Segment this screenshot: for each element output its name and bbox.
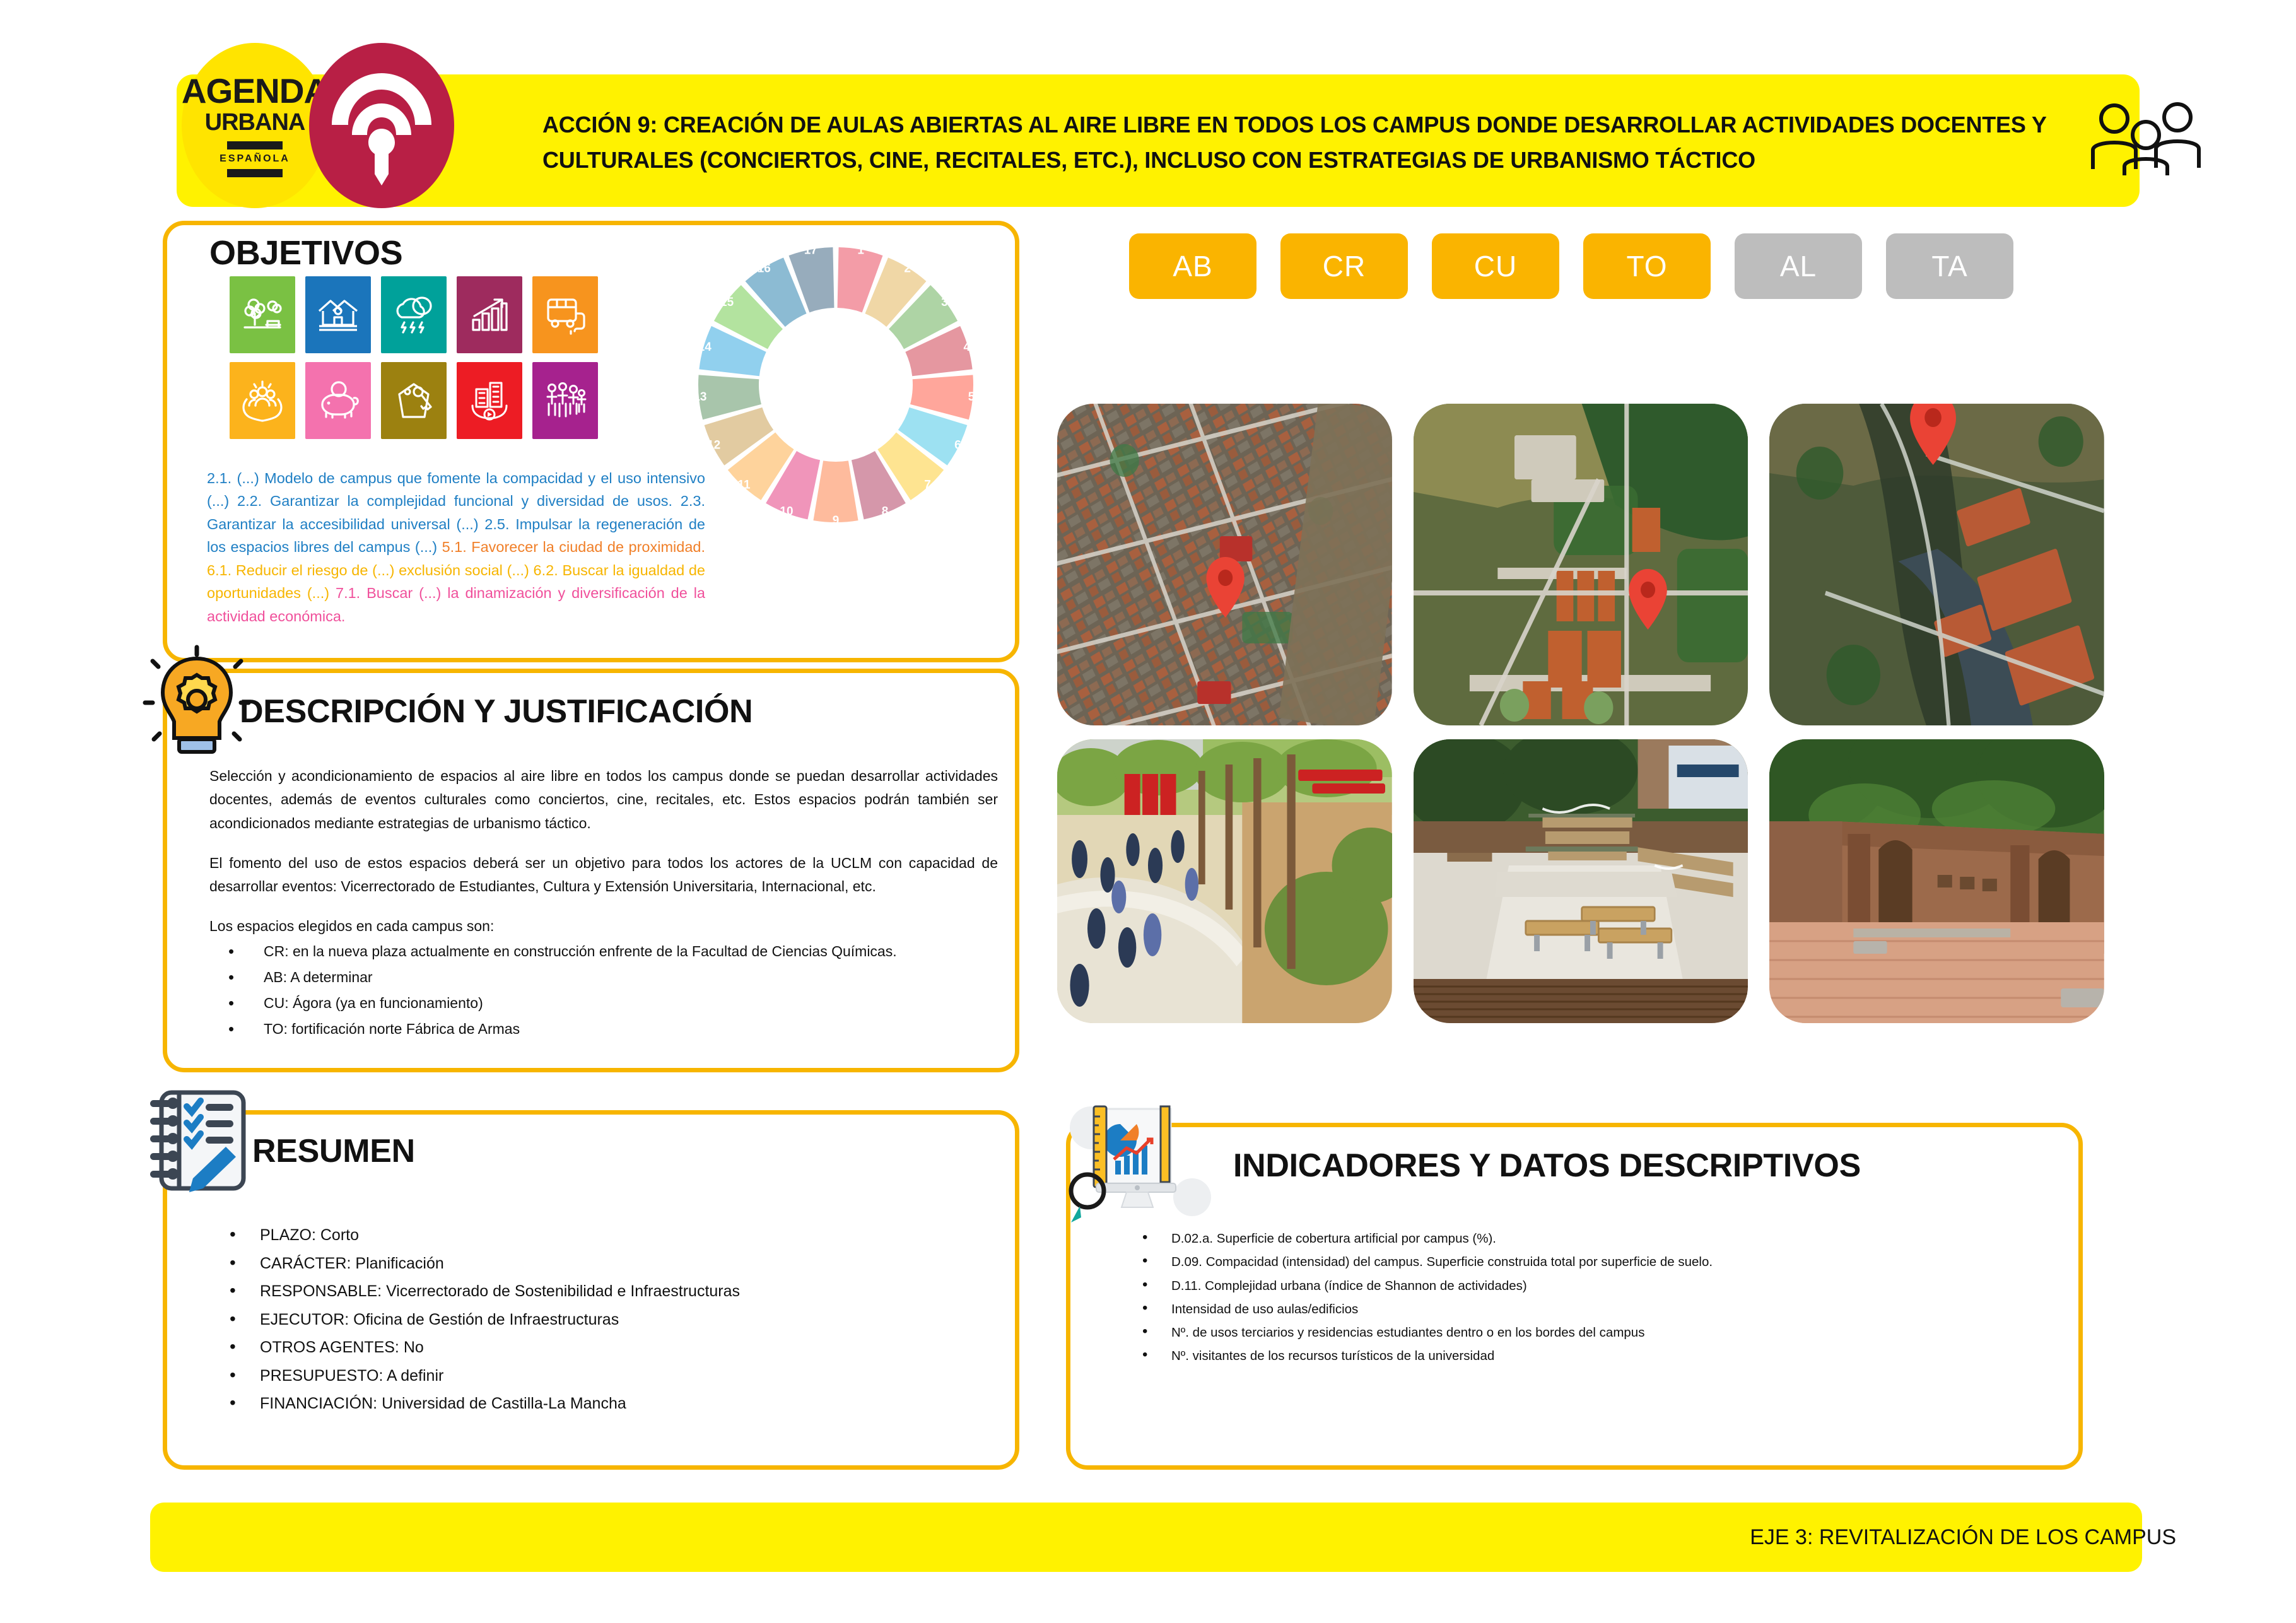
objetivos-text: 2.1. (...) Modelo de campus que fomente … xyxy=(207,467,705,628)
resumen-list: PLAZO: Corto CARÁCTER: Planificación RES… xyxy=(221,1222,978,1419)
campus-tag-to[interactable]: TO xyxy=(1583,233,1711,299)
aerial-map-albacete xyxy=(1057,404,1392,725)
smart-city-buildings-icon xyxy=(457,362,522,439)
svg-text:7: 7 xyxy=(924,479,931,492)
campus-tag-cr[interactable]: CR xyxy=(1280,233,1408,299)
list-item: PLAZO: Corto xyxy=(221,1222,978,1248)
svg-text:11: 11 xyxy=(737,479,751,492)
svg-text:8: 8 xyxy=(882,505,889,518)
photo-row xyxy=(1057,739,2104,1023)
svg-text:1: 1 xyxy=(857,244,864,257)
family-people-icon xyxy=(532,362,598,439)
list-item: AB: A determinar xyxy=(220,966,998,989)
svg-text:16: 16 xyxy=(758,262,771,275)
logo-bar-top xyxy=(227,141,283,149)
svg-text:9: 9 xyxy=(833,514,840,527)
wifi-rocket-logo-icon xyxy=(309,43,454,208)
svg-text:14: 14 xyxy=(698,341,712,354)
descripcion-paragraph-2: El fomento del uso de estos espacios deb… xyxy=(209,852,998,899)
list-item: OTROS AGENTES: No xyxy=(221,1335,978,1361)
logo-line-espanola: ESPAÑOLA xyxy=(220,154,290,164)
campus-tag-al[interactable]: AL xyxy=(1735,233,1862,299)
campus-tag-cu[interactable]: CU xyxy=(1432,233,1559,299)
notebook-checklist-pencil-icon xyxy=(140,1084,260,1207)
list-item: FINANCIACIÓN: Universidad de Castilla-La… xyxy=(221,1391,978,1417)
descripcion-paragraph-3: Los espacios elegidos en cada campus son… xyxy=(209,915,998,938)
list-item: PRESUPUESTO: A definir xyxy=(221,1363,978,1389)
svg-text:4: 4 xyxy=(963,341,970,354)
svg-text:12: 12 xyxy=(707,438,720,452)
indicadores-heading: INDICADORES Y DATOS DESCRIPTIVOS xyxy=(1233,1147,1861,1185)
growth-bar-chart-icon xyxy=(457,276,522,353)
aerial-map-toledo xyxy=(1769,404,2104,725)
list-item: CR: en la nueva plaza actualmente en con… xyxy=(220,940,998,963)
svg-text:6: 6 xyxy=(954,438,961,452)
park-trees-bench-icon xyxy=(230,276,295,353)
list-item: RESPONSABLE: Vicerrectorado de Sostenibi… xyxy=(221,1279,978,1304)
svg-text:3: 3 xyxy=(941,296,948,309)
sdg-segment-9 xyxy=(813,460,858,522)
objetivos-heading: OBJETIVOS xyxy=(209,233,402,272)
list-item: TO: fortificación norte Fábrica de Armas xyxy=(220,1017,998,1041)
descripcion-bullet-list: CR: en la nueva plaza actualmente en con… xyxy=(220,940,998,1041)
photo-fabrica-armas-toledo xyxy=(1769,739,2104,1023)
list-item: Nº. de usos terciarios y residencias est… xyxy=(1132,1321,2066,1344)
aerial-map-ciudad-real xyxy=(1414,404,1748,725)
agenda-urbana-logo: AGENDA URBANA ESPAÑOLA xyxy=(182,43,328,208)
sdg-wheel-icon: 1234567891011121314151617 xyxy=(694,243,978,527)
piggy-bank-icon xyxy=(305,362,371,439)
list-item: EJECUTOR: Oficina de Gestión de Infraest… xyxy=(221,1307,978,1333)
image-gallery xyxy=(1057,404,2104,1037)
list-item: D.11. Complejidad urbana (índice de Shan… xyxy=(1132,1274,2066,1298)
logo-line-agenda: AGENDA xyxy=(182,74,328,108)
logo-line-urbana: URBANA xyxy=(205,110,305,136)
list-item: Nº. visitantes de los recursos turístico… xyxy=(1132,1344,2066,1368)
descripcion-body: Selección y acondicionamiento de espacio… xyxy=(209,765,998,1044)
photo-agora-cuenca xyxy=(1414,739,1748,1023)
houses-buildings-icon xyxy=(305,276,371,353)
objetivos-icon-grid xyxy=(230,276,602,448)
list-item: CARÁCTER: Planificación xyxy=(221,1251,978,1277)
lightbulb-gear-icon xyxy=(140,645,254,780)
house-keys-icon xyxy=(381,362,447,439)
svg-text:17: 17 xyxy=(804,244,817,257)
campus-tag-ta[interactable]: TA xyxy=(1886,233,2013,299)
monitor-chart-ruler-pencil-icon xyxy=(1066,1103,1211,1232)
aerial-map-row xyxy=(1057,404,2104,725)
resumen-heading: RESUMEN xyxy=(252,1132,415,1170)
logo-bar-bottom xyxy=(227,169,283,177)
list-item: CU: Ágora (ya en funcionamiento) xyxy=(220,992,998,1015)
campus-tag-list: AB CR CU TO AL TA xyxy=(1129,233,2013,299)
svg-text:10: 10 xyxy=(780,505,793,518)
svg-text:2: 2 xyxy=(904,262,911,275)
svg-text:15: 15 xyxy=(720,296,734,309)
descripcion-paragraph-1: Selección y acondicionamiento de espacio… xyxy=(209,765,998,835)
footer-text: EJE 3: REVITALIZACIÓN DE LOS CAMPUS xyxy=(1750,1525,2176,1550)
list-item: D.09. Compacidad (intensidad) del campus… xyxy=(1132,1250,2066,1274)
objetivos-text-orange: 5.1. Favorecer la ciudad de proximidad. xyxy=(442,539,705,555)
hands-people-care-icon xyxy=(230,362,295,439)
group-of-people-icon xyxy=(2088,101,2208,180)
indicadores-list: D.02.a. Superficie de cobertura artifici… xyxy=(1132,1227,2066,1368)
photo-plaza-uclm-render xyxy=(1057,739,1392,1023)
electric-bus-icon xyxy=(532,276,598,353)
svg-text:5: 5 xyxy=(968,390,975,404)
storm-cloud-rain-icon xyxy=(381,276,447,353)
descripcion-heading: DESCRIPCIÓN Y JUSTIFICACIÓN xyxy=(240,693,753,730)
list-item: D.02.a. Superficie de cobertura artifici… xyxy=(1132,1227,2066,1250)
campus-tag-ab[interactable]: AB xyxy=(1129,233,1256,299)
list-item: Intensidad de uso aulas/edificios xyxy=(1132,1298,2066,1321)
svg-text:13: 13 xyxy=(694,390,706,404)
page-title: ACCIÓN 9: CREACIÓN DE AULAS ABIERTAS AL … xyxy=(542,107,2056,177)
